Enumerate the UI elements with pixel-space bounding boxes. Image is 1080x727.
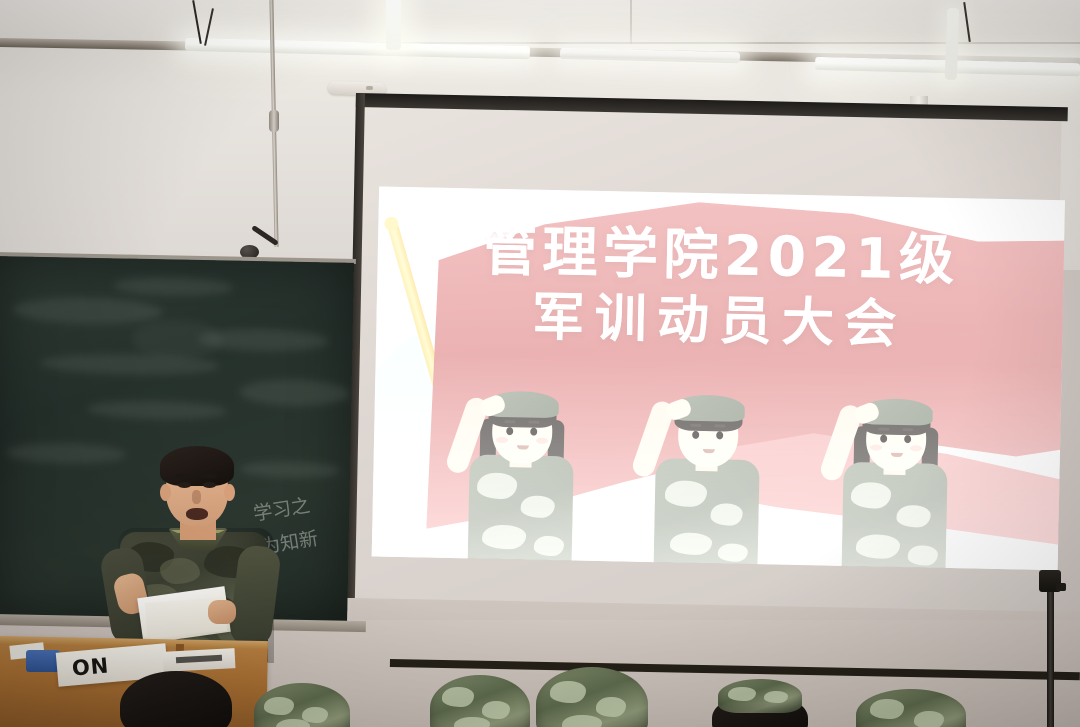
microphone-rod-joint: [269, 110, 279, 132]
eyebrow: [902, 428, 913, 431]
camouflage-pattern: [653, 458, 759, 570]
saluting-student-right-illustration: [833, 389, 957, 570]
blush: [496, 437, 508, 443]
eyebrow: [878, 428, 889, 431]
speaker-nose: [192, 490, 201, 504]
eyebrow: [504, 420, 515, 423]
classroom-photo-scene: 管理学院2021级 军训动员大会: [0, 0, 1080, 727]
eyebrow: [528, 421, 539, 424]
camouflage-shirt: [841, 462, 947, 570]
microphone-stand-clip: [1056, 583, 1066, 591]
camouflage-shirt: [468, 454, 574, 568]
speaker-eye: [203, 482, 216, 488]
saluting-student-center-illustration: [645, 385, 769, 570]
microphone-stand: [1047, 586, 1054, 727]
speaker-eye: [178, 482, 191, 488]
blush: [536, 438, 548, 444]
eyebrow: [714, 424, 725, 427]
wall-sensor-indicator: [366, 86, 373, 90]
speaker-eyebrow: [176, 474, 192, 478]
speaker-eyebrow: [201, 474, 217, 478]
speaker-mouth: [186, 508, 208, 520]
speaker-ear: [160, 484, 171, 501]
projection-screen: 管理学院2021级 军训动员大会: [346, 93, 1068, 612]
presentation-slide: 管理学院2021级 军训动员大会: [372, 186, 1065, 570]
camouflage-cap-icon: [718, 679, 802, 713]
ceiling-seam-vertical: [630, 0, 632, 44]
blush: [910, 445, 922, 451]
saluting-student-left-illustration: [460, 381, 584, 568]
fluorescent-tube-light: [945, 8, 960, 80]
ceiling: [0, 0, 1080, 44]
desk-bag-label: ON: [71, 653, 110, 680]
screen-surface: 管理学院2021级 军训动员大会: [355, 107, 1062, 612]
slide-title: 管理学院2021级 军训动员大会: [376, 214, 1065, 360]
blush: [870, 444, 882, 450]
speaker-ear: [224, 484, 235, 501]
fluorescent-tube-light: [386, 0, 401, 50]
speaker-hair: [160, 446, 234, 486]
speaker-paper-hand: [208, 600, 236, 624]
camouflage-pattern: [841, 462, 947, 570]
camouflage-pattern: [468, 454, 574, 568]
eyebrow: [690, 424, 701, 427]
camouflage-shirt: [653, 458, 759, 570]
